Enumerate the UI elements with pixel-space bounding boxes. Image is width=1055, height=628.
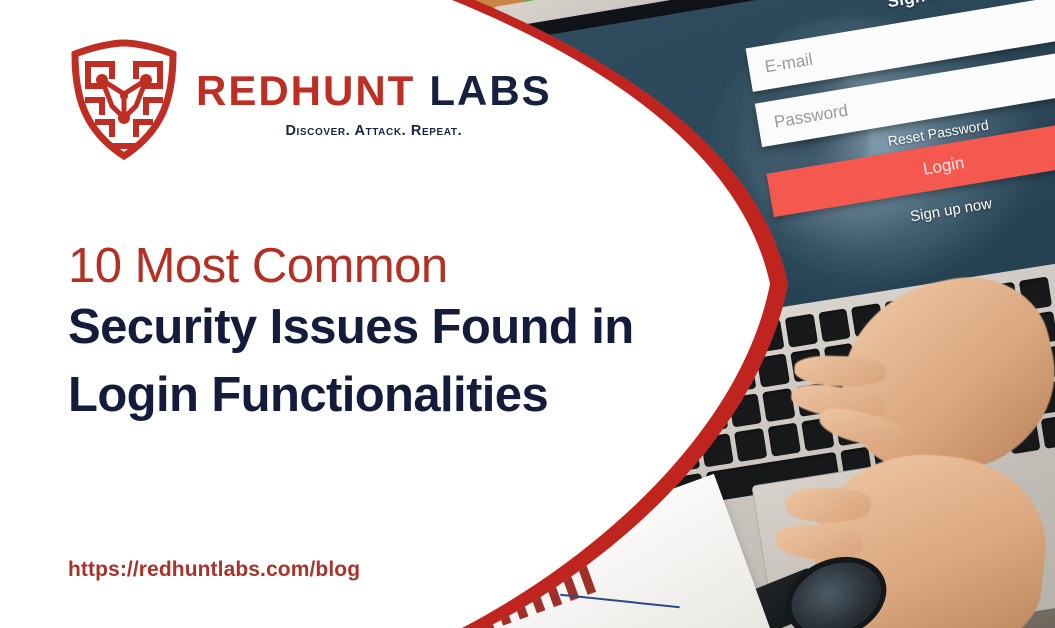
page-title: 10 Most Common Security Issues Found in …	[68, 240, 668, 429]
wordmark: REDHUNTLABS Discover. Attack. Repeat.	[196, 38, 552, 139]
key	[1041, 415, 1055, 449]
email-placeholder: E-mail	[748, 50, 815, 80]
key	[689, 364, 722, 398]
key	[605, 484, 638, 518]
key	[633, 444, 666, 478]
key	[600, 449, 633, 483]
key	[684, 330, 717, 364]
login-form: Sign in E-mail Password Reset Password L…	[740, 0, 1055, 248]
printed-report	[432, 474, 772, 628]
shield-maze-icon	[68, 38, 180, 162]
key	[784, 314, 817, 348]
key	[700, 433, 733, 467]
key	[762, 388, 795, 422]
key	[695, 399, 728, 433]
brand-name-secondary: LABS	[429, 67, 551, 114]
key	[728, 393, 761, 427]
key	[751, 319, 784, 353]
headline-line-2: Security Issues Found in	[68, 294, 668, 362]
key	[756, 354, 789, 388]
wordmark-row: REDHUNTLABS	[196, 70, 552, 112]
key	[717, 324, 750, 358]
password-placeholder: Password	[757, 101, 850, 136]
brand-name-primary: REDHUNT	[196, 67, 415, 114]
headline-line-3: Login Functionalities	[68, 362, 668, 430]
key	[767, 423, 800, 457]
brand-logo[interactable]: REDHUNTLABS Discover. Attack. Repeat.	[68, 38, 552, 162]
key	[818, 308, 851, 342]
key	[667, 439, 700, 473]
key	[734, 428, 767, 462]
headline-line-1: 10 Most Common	[68, 240, 668, 294]
blog-banner: Sign in E-mail Password Reset Password L…	[0, 0, 1055, 628]
brand-tagline: Discover. Attack. Repeat.	[196, 123, 552, 139]
key	[723, 359, 756, 393]
blog-url[interactable]: https://redhuntlabs.com/blog	[68, 558, 360, 582]
